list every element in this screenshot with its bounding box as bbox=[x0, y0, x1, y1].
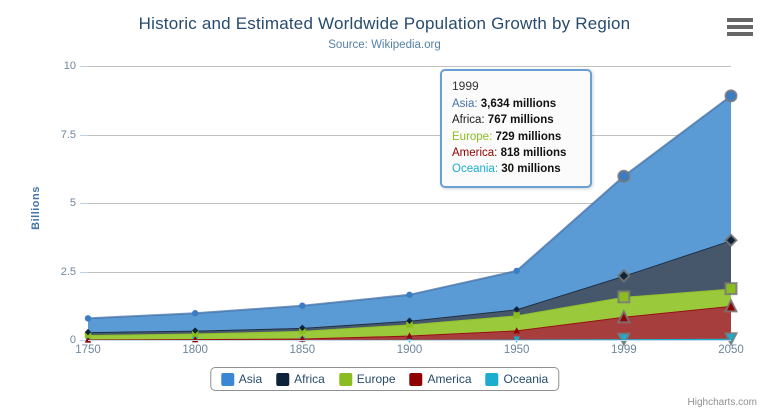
chart-title: Historic and Estimated Worldwide Populat… bbox=[0, 14, 769, 34]
legend-item-oceania[interactable]: Oceania bbox=[486, 372, 549, 386]
x-axis-label: 1999 bbox=[611, 344, 637, 356]
plot-area: 02.557.510 bbox=[88, 66, 731, 340]
data-point-asia[interactable] bbox=[618, 171, 629, 182]
x-axis-label: 2050 bbox=[718, 344, 744, 356]
tooltip-series-name: Asia: bbox=[452, 98, 481, 110]
data-point-asia[interactable] bbox=[513, 268, 519, 274]
tooltip-series-value: 818 millions bbox=[501, 147, 567, 159]
y-tick-2.5 bbox=[80, 272, 88, 273]
legend-swatch bbox=[410, 373, 423, 386]
tooltip-row: Africa: 767 millions bbox=[452, 112, 581, 128]
series-layer bbox=[88, 66, 731, 340]
data-point-oceania[interactable] bbox=[726, 333, 737, 344]
legend-label: Europe bbox=[357, 372, 396, 386]
menu-bar-1 bbox=[727, 18, 753, 22]
data-point-europe[interactable] bbox=[618, 291, 629, 302]
x-axis-label: 1750 bbox=[75, 344, 101, 356]
data-point-asia[interactable] bbox=[726, 90, 737, 101]
menu-bar-2 bbox=[727, 25, 753, 29]
data-point-asia[interactable] bbox=[85, 315, 91, 321]
tooltip-series-name: Oceania: bbox=[452, 163, 501, 175]
y-axis-label: 5 bbox=[70, 197, 76, 209]
highcharts-container: Historic and Estimated Worldwide Populat… bbox=[0, 0, 769, 416]
data-point-asia[interactable] bbox=[192, 310, 198, 316]
legend-swatch bbox=[486, 373, 499, 386]
tooltip-series-value: 30 millions bbox=[501, 163, 560, 175]
tooltip-series-value: 3,634 millions bbox=[481, 98, 556, 110]
legend-label: Asia bbox=[239, 372, 262, 386]
y-tick-10 bbox=[80, 66, 88, 67]
tooltip-series-name: Europe: bbox=[452, 131, 495, 143]
credits-link[interactable]: Highcharts.com bbox=[688, 397, 757, 408]
x-axis-label: 1900 bbox=[397, 344, 423, 356]
tooltip-series-value: 729 millions bbox=[495, 131, 561, 143]
legend-label: Oceania bbox=[504, 372, 549, 386]
legend: AsiaAfricaEuropeAmericaOceania bbox=[210, 367, 559, 391]
legend-item-africa[interactable]: Africa bbox=[276, 372, 325, 386]
y-tick-5 bbox=[80, 203, 88, 204]
y-axis-label: 10 bbox=[64, 60, 76, 72]
tooltip-rows: Asia: 3,634 millionsAfrica: 767 millions… bbox=[452, 96, 581, 178]
x-axis-label: 1800 bbox=[182, 344, 208, 356]
hamburger-menu-icon[interactable] bbox=[727, 16, 753, 38]
legend-item-europe[interactable]: Europe bbox=[339, 372, 396, 386]
menu-bar-3 bbox=[727, 32, 753, 36]
x-axis-line bbox=[88, 340, 731, 341]
data-point-europe[interactable] bbox=[726, 283, 737, 294]
tooltip-series-name: Africa: bbox=[452, 114, 488, 126]
tooltip-row: Europe: 729 millions bbox=[452, 129, 581, 145]
data-point-asia[interactable] bbox=[299, 302, 305, 308]
tooltip-series-name: America: bbox=[452, 147, 501, 159]
legend-label: America bbox=[428, 372, 472, 386]
legend-item-asia[interactable]: Asia bbox=[221, 372, 262, 386]
tooltip-row: Asia: 3,634 millions bbox=[452, 96, 581, 112]
data-point-europe[interactable] bbox=[513, 312, 519, 318]
x-axis-label: 1950 bbox=[504, 344, 530, 356]
legend-swatch bbox=[221, 373, 234, 386]
legend-item-america[interactable]: America bbox=[410, 372, 472, 386]
y-axis-title: Billions bbox=[30, 186, 42, 230]
x-axis-label: 1850 bbox=[290, 344, 316, 356]
y-axis-label: 7.5 bbox=[61, 129, 76, 141]
tooltip-series-value: 767 millions bbox=[488, 114, 554, 126]
legend-label: Africa bbox=[294, 372, 325, 386]
legend-swatch bbox=[339, 373, 352, 386]
tooltip: 1999 Asia: 3,634 millionsAfrica: 767 mil… bbox=[440, 69, 592, 188]
chart-subtitle: Source: Wikipedia.org bbox=[0, 39, 769, 51]
legend-swatch bbox=[276, 373, 289, 386]
y-axis-label: 2.5 bbox=[61, 266, 76, 278]
tooltip-row: America: 818 millions bbox=[452, 145, 581, 161]
tooltip-row: Oceania: 30 millions bbox=[452, 161, 581, 177]
tooltip-header: 1999 bbox=[452, 78, 581, 95]
y-tick-7.5 bbox=[80, 135, 88, 136]
data-point-asia[interactable] bbox=[406, 292, 412, 298]
